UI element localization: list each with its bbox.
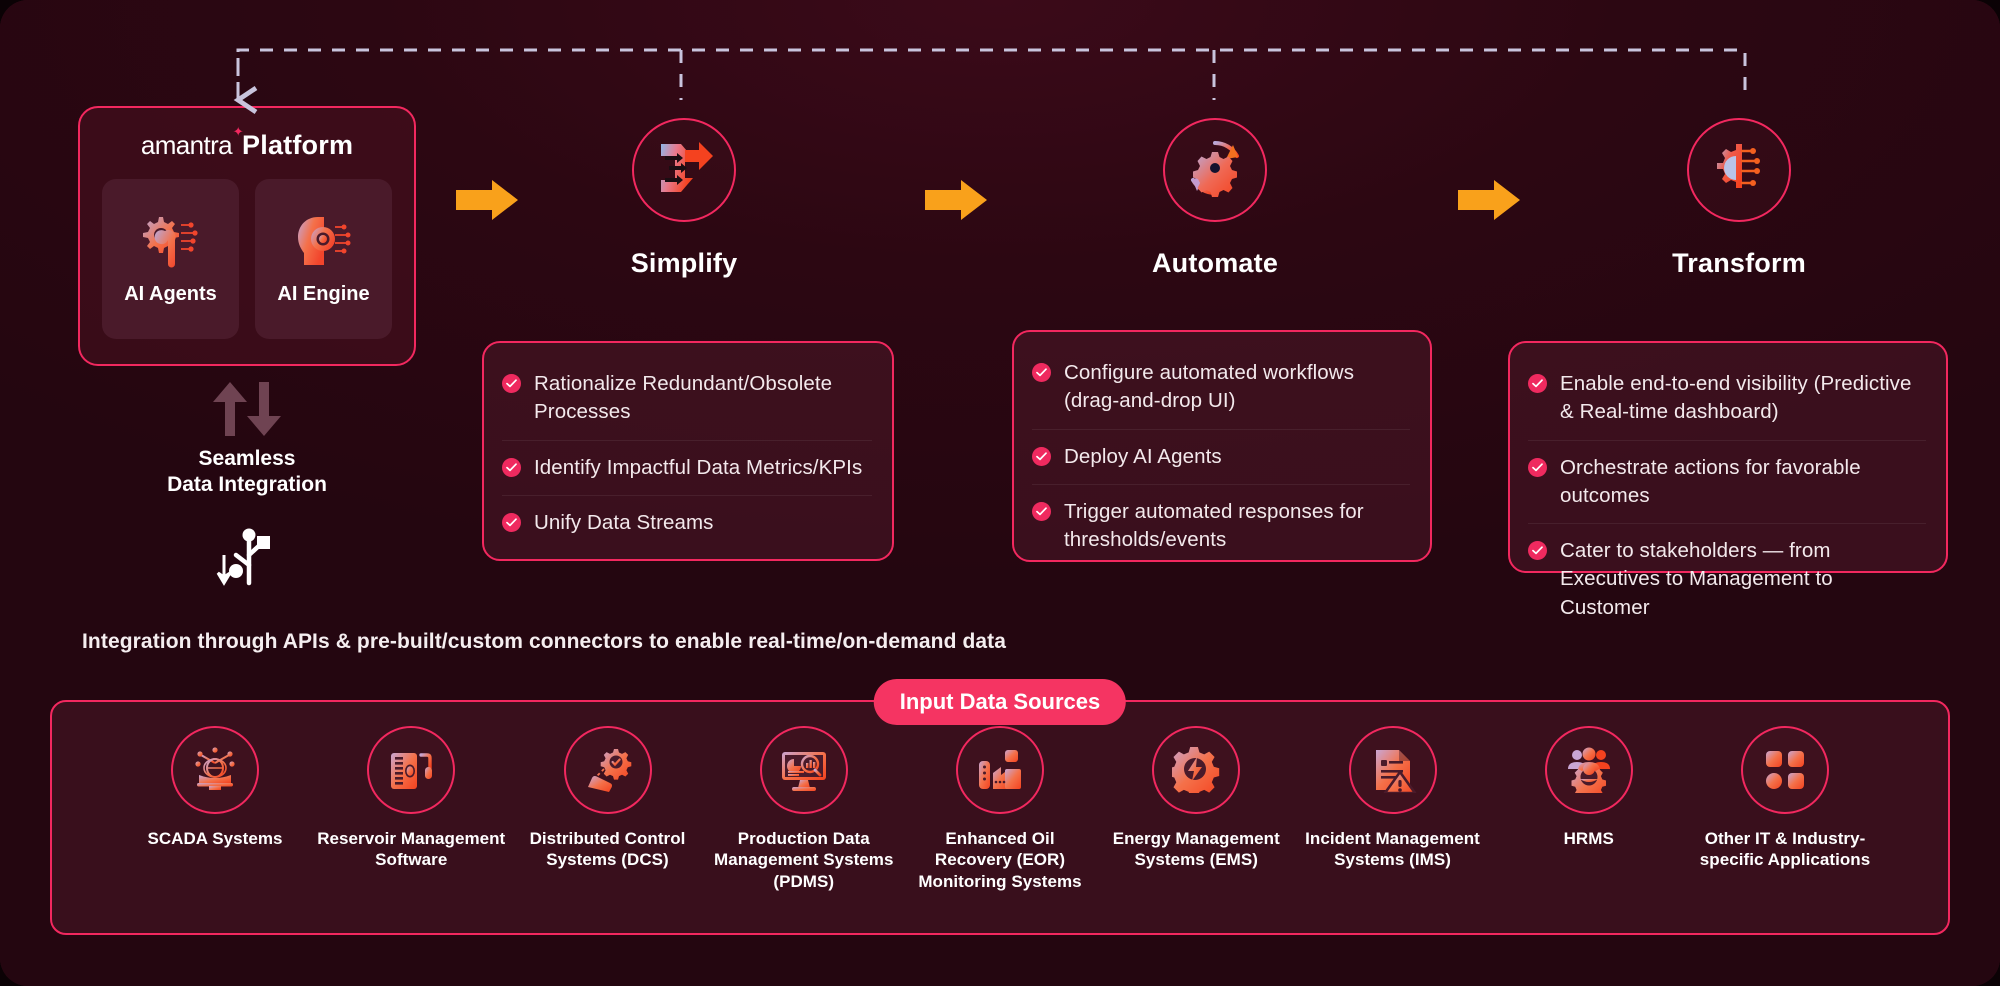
bullet-item: Enable end-to-end visibility (Predictive…	[1528, 357, 1926, 440]
step-name: Automate	[1075, 248, 1355, 279]
gear-wrench-circuit-icon	[137, 213, 205, 269]
bullet-item: Orchestrate actions for favorable outcom…	[1528, 440, 1926, 524]
data-source-item[interactable]: HRMS	[1494, 726, 1684, 849]
oil-refinery-icon	[956, 726, 1044, 814]
check-icon	[1528, 458, 1547, 477]
bullet-text: Enable end-to-end visibility (Predictive…	[1560, 370, 1926, 427]
bullet-item: Unify Data Streams	[502, 495, 872, 550]
check-icon	[502, 458, 521, 477]
bullet-item: Configure automated workflows (drag-and-…	[1032, 346, 1410, 429]
head-gear-circuit-icon	[290, 213, 358, 269]
bullet-text: Trigger automated responses for threshol…	[1064, 498, 1410, 555]
seamless-data-integration: Seamless Data Integration	[78, 378, 416, 589]
data-source-label: HRMS	[1494, 828, 1684, 849]
data-source-label: Production Data Management Systems (PDMS…	[709, 828, 899, 892]
data-source-label: SCADA Systems	[120, 828, 310, 849]
tile-ai-engine[interactable]: AI Engine	[255, 179, 392, 339]
bullet-text: Identify Impactful Data Metrics/KPIs	[534, 454, 862, 482]
data-source-label: Other IT & Industry-specific Application…	[1690, 828, 1880, 871]
input-data-sources-badge: Input Data Sources	[874, 679, 1126, 725]
seamless-line1: Seamless	[78, 446, 416, 472]
gear-bolt-icon	[1152, 726, 1240, 814]
check-icon	[1528, 541, 1547, 560]
bullet-text: Deploy AI Agents	[1064, 443, 1222, 471]
check-icon	[1528, 374, 1547, 393]
bullet-text: Unify Data Streams	[534, 509, 714, 537]
hand-gear-check-icon	[564, 726, 652, 814]
flow-arrow-2-icon	[925, 178, 989, 227]
usb-connector-icon	[78, 521, 416, 589]
data-source-label: Energy Management Systems (EMS)	[1101, 828, 1291, 871]
data-source-item[interactable]: Enhanced Oil Recovery (EOR) Monitoring S…	[905, 726, 1095, 892]
simplify-bullets-card: Rationalize Redundant/Obsolete Processes…	[482, 341, 894, 561]
data-source-label: Enhanced Oil Recovery (EOR) Monitoring S…	[905, 828, 1095, 892]
data-source-list: SCADA Systems Reservoir Management Softw…	[50, 726, 1950, 892]
check-icon	[1032, 447, 1051, 466]
step-name: Transform	[1599, 248, 1879, 279]
bullet-text: Cater to stakeholders — from Executives …	[1560, 537, 1926, 622]
data-source-item[interactable]: Energy Management Systems (EMS)	[1101, 726, 1291, 871]
check-icon	[502, 513, 521, 532]
app-grid-icon	[1741, 726, 1829, 814]
check-icon	[502, 374, 521, 393]
bullet-item: Deploy AI Agents	[1032, 429, 1410, 484]
transform-bullets-card: Enable end-to-end visibility (Predictive…	[1508, 341, 1948, 573]
tile-label: AI Engine	[277, 283, 369, 306]
data-source-item[interactable]: Other IT & Industry-specific Application…	[1690, 726, 1880, 871]
step-name: Simplify	[544, 248, 824, 279]
tile-label: AI Agents	[124, 283, 217, 306]
bullet-item: Identify Impactful Data Metrics/KPIs	[502, 440, 872, 495]
bullet-item: Rationalize Redundant/Obsolete Processes	[502, 357, 872, 440]
people-gear-icon	[1545, 726, 1633, 814]
reservoir-server-icon	[367, 726, 455, 814]
flow-arrow-1-icon	[456, 178, 520, 227]
data-source-label: Reservoir Management Software	[316, 828, 506, 871]
tile-ai-agents[interactable]: AI Agents	[102, 179, 239, 339]
monitor-analytics-icon	[760, 726, 848, 814]
feedback-loop-connector	[0, 0, 2000, 180]
scada-globe-icon	[171, 726, 259, 814]
data-source-item[interactable]: Distributed Control Systems (DCS)	[513, 726, 703, 871]
diagram-canvas: amantra✦ Platform	[0, 0, 2000, 986]
check-icon	[1032, 502, 1051, 521]
data-source-item[interactable]: Reservoir Management Software	[316, 726, 506, 871]
check-icon	[1032, 363, 1051, 382]
data-source-label: Distributed Control Systems (DCS)	[513, 828, 703, 871]
integration-note: Integration through APIs & pre-built/cus…	[82, 630, 1006, 654]
seamless-line2: Data Integration	[78, 472, 416, 498]
document-alert-icon	[1349, 726, 1437, 814]
data-source-item[interactable]: Incident Management Systems (IMS)	[1298, 726, 1488, 871]
data-source-item[interactable]: SCADA Systems	[120, 726, 310, 849]
bullet-text: Configure automated workflows (drag-and-…	[1064, 359, 1410, 416]
automate-bullets-card: Configure automated workflows (drag-and-…	[1012, 330, 1432, 562]
data-source-label: Incident Management Systems (IMS)	[1298, 828, 1488, 871]
flow-arrow-3-icon	[1458, 178, 1522, 227]
bullet-item: Trigger automated responses for threshol…	[1032, 484, 1410, 568]
bullet-text: Orchestrate actions for favorable outcom…	[1560, 454, 1926, 511]
bullet-item: Cater to stakeholders — from Executives …	[1528, 523, 1926, 635]
data-source-item[interactable]: Production Data Management Systems (PDMS…	[709, 726, 899, 892]
up-down-arrows-icon	[78, 378, 416, 440]
bullet-text: Rationalize Redundant/Obsolete Processes	[534, 370, 872, 427]
